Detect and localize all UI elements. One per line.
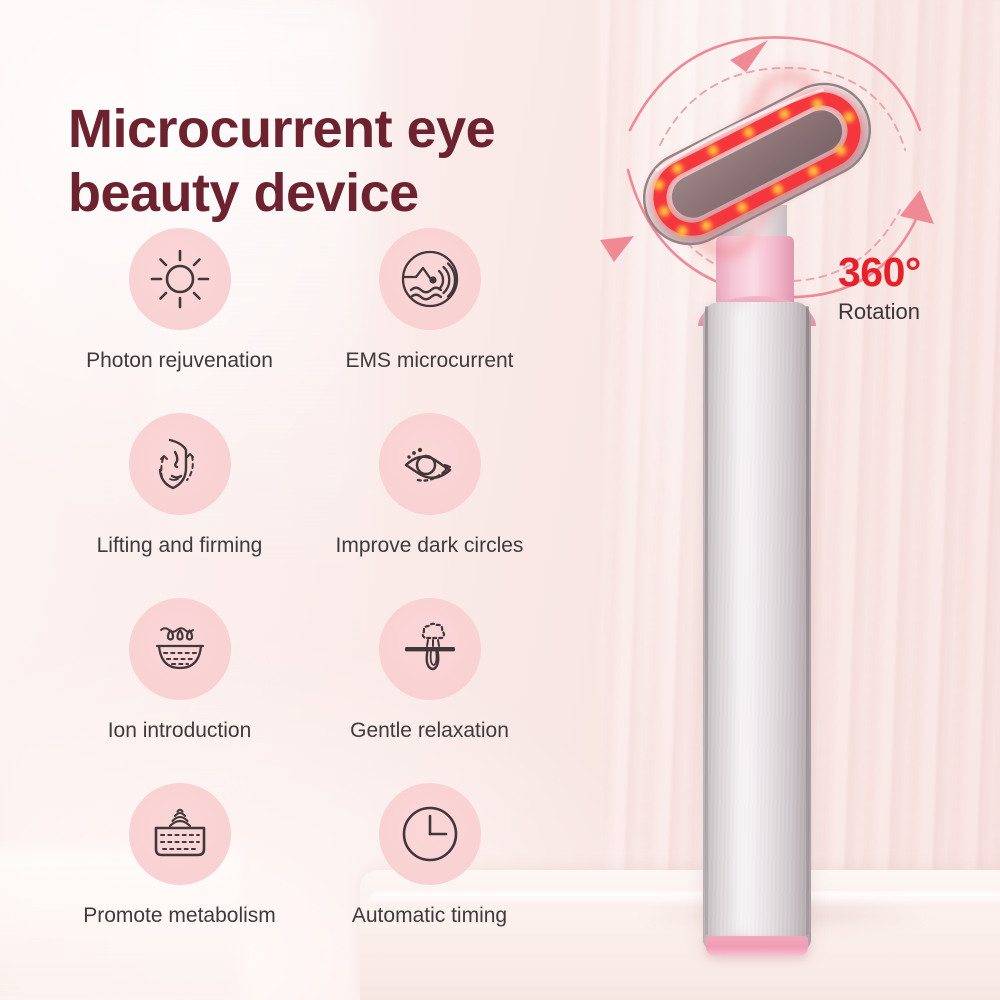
ion-absorption-icon xyxy=(148,617,212,681)
pore-steam-icon xyxy=(398,617,462,681)
skin-wave-icon xyxy=(148,802,212,866)
feature-item-lifting-and-firming: Lifting and firming xyxy=(52,413,307,598)
feature-icon-badge xyxy=(379,598,481,700)
sun-icon xyxy=(148,247,212,311)
page-title: Microcurrent eye beauty device xyxy=(68,98,628,225)
clock-icon xyxy=(398,802,462,866)
ems-wave-icon xyxy=(398,247,462,311)
feature-label: Promote metabolism xyxy=(83,904,276,928)
feature-label: Ion introduction xyxy=(108,719,252,743)
eye-icon xyxy=(398,432,462,496)
feature-icon-badge xyxy=(129,598,231,700)
feature-icon-badge xyxy=(129,228,231,330)
feature-item-ems-microcurrent: EMS microcurrent xyxy=(302,228,557,413)
feature-row: Lifting and firming xyxy=(0,413,600,598)
face-lifting-icon xyxy=(148,432,212,496)
feature-label: Improve dark circles xyxy=(336,534,524,558)
feature-row: Promote metabolism Automatic timing xyxy=(0,783,600,968)
feature-grid: Photon rejuvenation xyxy=(0,228,600,968)
feature-row: Ion introduction xyxy=(0,598,600,783)
feature-row: Photon rejuvenation xyxy=(0,228,600,413)
feature-item-improve-dark-circles: Improve dark circles xyxy=(302,413,557,598)
feature-item-gentle-relaxation: Gentle relaxation xyxy=(302,598,557,783)
feature-icon-badge xyxy=(129,413,231,515)
feature-icon-badge xyxy=(129,783,231,885)
feature-icon-badge xyxy=(379,413,481,515)
product-image-canvas: Microcurrent eye beauty device xyxy=(0,0,1000,1000)
feature-item-ion-introduction: Ion introduction xyxy=(52,598,307,783)
feature-label: Lifting and firming xyxy=(97,534,263,558)
feature-label: Gentle relaxation xyxy=(350,719,509,743)
feature-label: EMS microcurrent xyxy=(345,349,513,373)
feature-label: Automatic timing xyxy=(352,904,507,928)
feature-icon-badge xyxy=(379,228,481,330)
feature-item-automatic-timing: Automatic timing xyxy=(302,783,557,968)
feature-item-promote-metabolism: Promote metabolism xyxy=(52,783,307,968)
device-contact-shadow xyxy=(640,898,930,932)
feature-label: Photon rejuvenation xyxy=(86,349,273,373)
feature-item-photon-rejuvenation: Photon rejuvenation xyxy=(52,228,307,413)
title-line-2: beauty device xyxy=(68,162,628,226)
title-line-1: Microcurrent eye xyxy=(68,99,495,159)
feature-icon-badge xyxy=(379,783,481,885)
